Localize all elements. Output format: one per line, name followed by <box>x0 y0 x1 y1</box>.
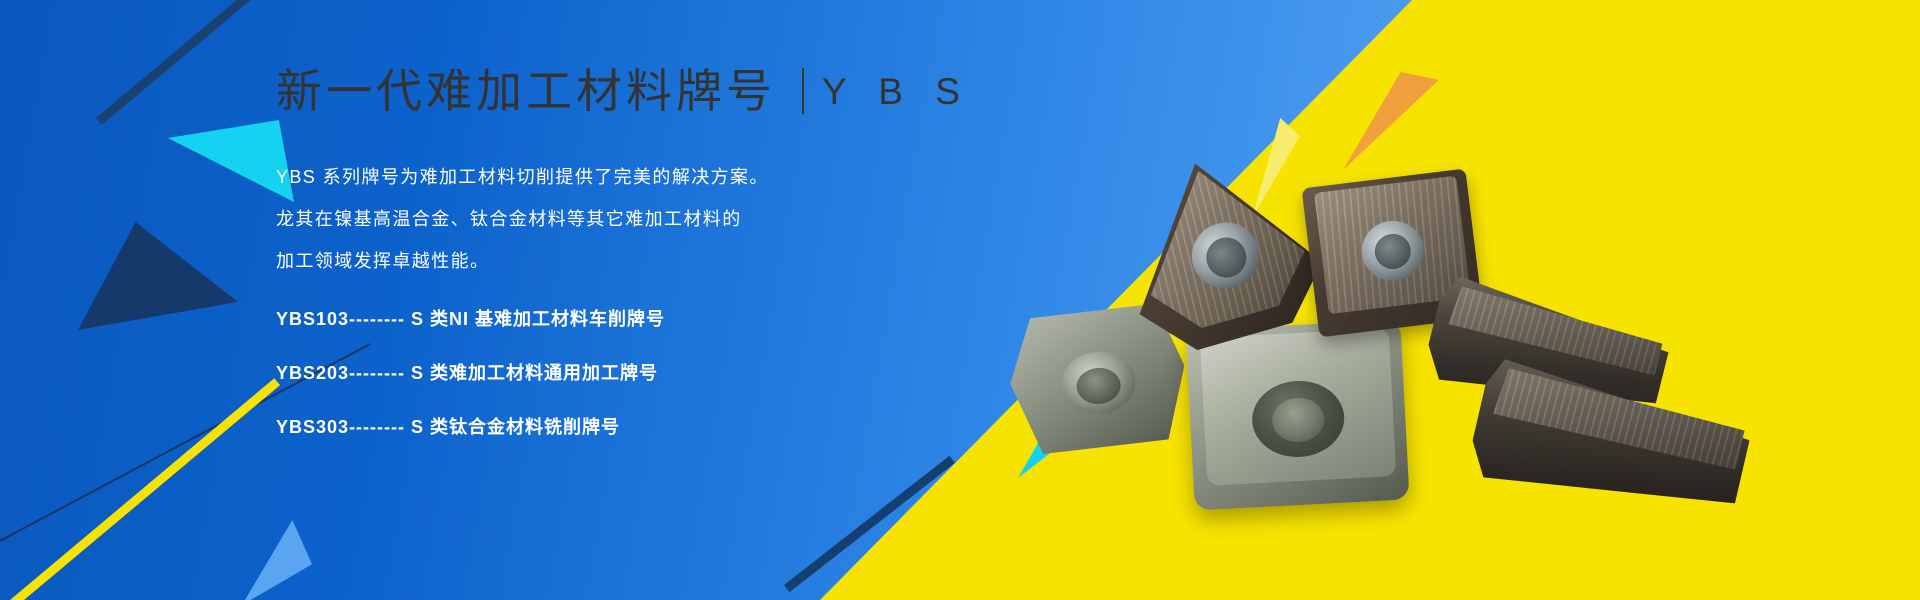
banner-description: YBS 系列牌号为难加工材料切削提供了完美的解决方案。 龙其在镍基高温合金、钛合… <box>276 164 936 290</box>
title-divider <box>802 68 804 114</box>
product-grade-ybs203: YBS203-------- S 类难加工材料通用加工牌号 <box>276 359 665 385</box>
dark-bar-insert-lower-image <box>1465 356 1755 534</box>
navy-diagonal-bar-top-left <box>96 0 252 125</box>
description-line-3: 加工领域发挥卓越性能。 <box>276 248 936 275</box>
navy-triangle-left <box>78 222 238 330</box>
yellow-diagonal-bar-left <box>10 378 280 600</box>
product-insert-group <box>980 130 1920 600</box>
product-grade-list: YBS103-------- S 类NI 基难加工材料车削牌号 YBS203--… <box>276 305 665 467</box>
hero-banner: 新一代难加工材料牌号 Y B S YBS 系列牌号为难加工材料切削提供了完美的解… <box>0 0 1920 600</box>
description-line-1: YBS 系列牌号为难加工材料切削提供了完美的解决方案。 <box>276 164 936 191</box>
olive-milling-insert-image <box>1185 319 1409 510</box>
title-chinese: 新一代难加工材料牌号 <box>276 68 776 114</box>
banner-text-content: 新一代难加工材料牌号 Y B S YBS 系列牌号为难加工材料切削提供了完美的解… <box>276 0 996 600</box>
title-english: Y B S <box>822 73 971 110</box>
product-grade-ybs103: YBS103-------- S 类NI 基难加工材料车削牌号 <box>276 305 665 331</box>
description-line-2: 龙其在镍基高温合金、钛合金材料等其它难加工材料的 <box>276 206 936 233</box>
product-grade-ybs303: YBS303-------- S 类钛合金材料铣削牌号 <box>276 413 665 439</box>
banner-title: 新一代难加工材料牌号 Y B S <box>276 68 971 114</box>
